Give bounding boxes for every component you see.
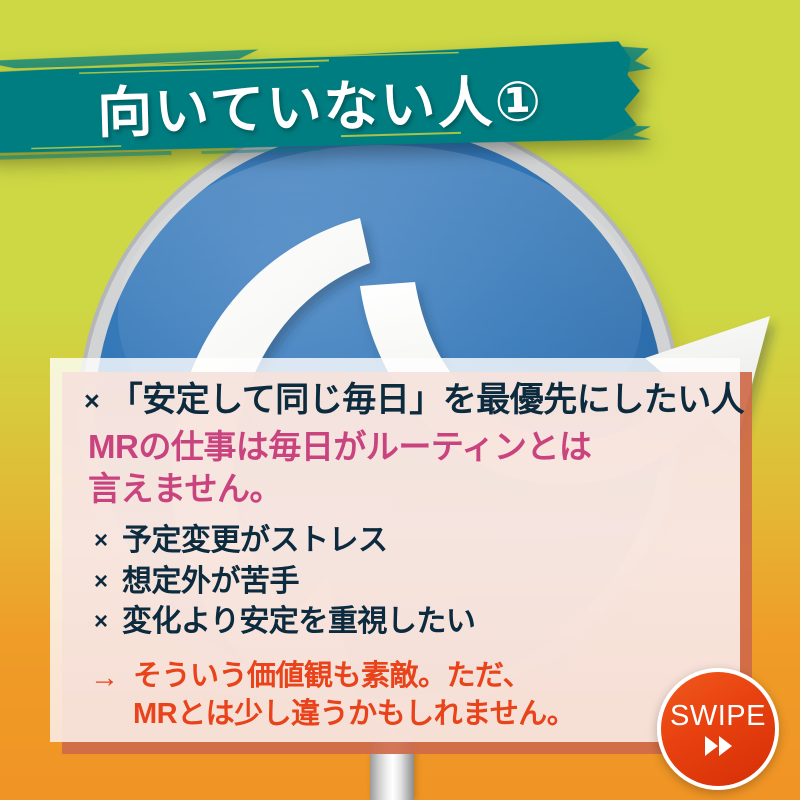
fast-forward-icon — [705, 736, 732, 756]
list-item: × 想定外が苦手 — [84, 562, 710, 602]
poster-canvas: 向いていない人① × 「安定して同じ毎日」を最優先にしたい人 MRの仕事は毎日が… — [0, 0, 800, 800]
card-subline-line2: 言えません。 — [88, 468, 710, 510]
cross-mark-icon: × — [94, 602, 108, 634]
list-item-label: 想定外が苦手 — [122, 562, 299, 602]
card-subline-line1: MRの仕事は毎日がルーティンとは — [88, 426, 710, 468]
conclusion-line1: そういう価値観も素敵。ただ、 — [133, 658, 575, 696]
list-item: × 変化より安定を重視したい — [84, 602, 710, 642]
headline-row: × 「安定して同じ毎日」を最優先にしたい人 — [84, 380, 710, 420]
page-title: 向いていない人① — [0, 43, 641, 161]
card-subline: MRの仕事は毎日がルーティンとは 言えません。 — [88, 426, 710, 509]
cross-mark-icon: × — [84, 380, 100, 415]
conclusion-text: そういう価値観も素敵。ただ、 MRとは少し違うかもしれません。 — [133, 658, 575, 733]
content-card: × 「安定して同じ毎日」を最優先にしたい人 MRの仕事は毎日がルーティンとは 言… — [50, 358, 740, 742]
list-item-label: 変化より安定を重視したい — [122, 602, 475, 642]
list-item: × 予定変更がストレス — [84, 521, 710, 561]
conclusion-line2: MRとは少し違うかもしれません。 — [133, 696, 575, 734]
list-item-label: 予定変更がストレス — [122, 521, 388, 561]
swipe-button[interactable]: SWIPE — [657, 668, 779, 790]
cross-mark-icon: × — [94, 562, 108, 594]
card-headline: 「安定して同じ毎日」を最優先にしたい人 — [109, 380, 744, 420]
cross-mark-icon: × — [94, 521, 108, 553]
arrow-right-icon: → — [90, 658, 119, 693]
conclusion-row: → そういう価値観も素敵。ただ、 MRとは少し違うかもしれません。 — [84, 658, 710, 733]
swipe-label: SWIPE — [670, 702, 766, 731]
